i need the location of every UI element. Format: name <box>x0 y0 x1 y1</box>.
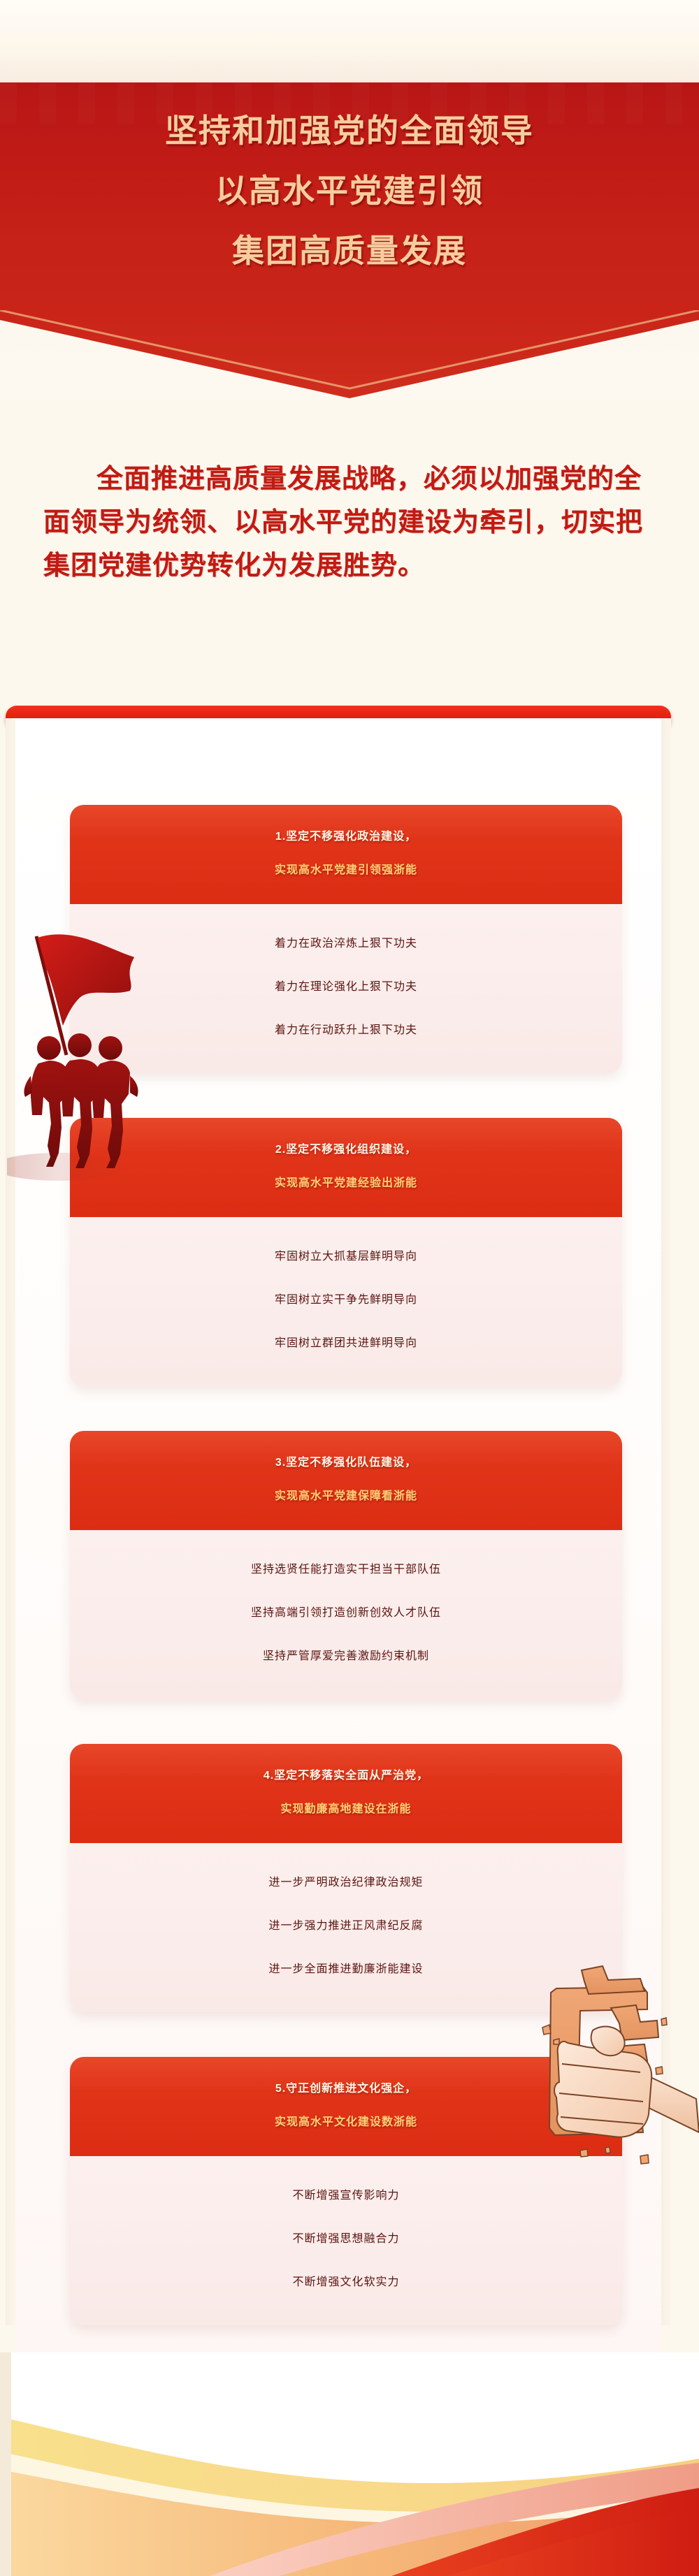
footer-ribbons <box>0 2352 699 2576</box>
section-header-3: 3.坚定不移强化队伍建设， 实现高水平党建保障看浙能 <box>70 1431 622 1530</box>
section-card-1[interactable]: 1.坚定不移强化政治建设， 实现高水平党建引领强浙能 着力在政治淬炼上狠下功夫 … <box>70 805 622 1073</box>
hero-chevron <box>0 310 699 401</box>
section-card-2[interactable]: 2.坚定不移强化组织建设， 实现高水平党建经验出浙能 牢固树立大抓基层鲜明导向 … <box>70 1118 622 1386</box>
section-header-1: 1.坚定不移强化政治建设， 实现高水平党建引领强浙能 <box>70 805 622 904</box>
section-card-4[interactable]: 4.坚定不移落实全面从严治党， 实现勤廉高地建设在浙能 进一步严明政治纪律政治规… <box>70 1744 622 2012</box>
section-item: 坚持高端引领打造创新创效人才队伍 <box>70 1592 622 1635</box>
frame-left-edge <box>6 718 15 2325</box>
top-cream-strip <box>0 0 699 85</box>
section-item: 着力在政治淬炼上狠下功夫 <box>70 922 622 966</box>
section-item: 着力在行动跃升上狠下功夫 <box>70 1009 622 1052</box>
frame-right-edge <box>661 718 671 2325</box>
section-title-line2-4: 实现勤廉高地建设在浙能 <box>70 1793 622 1826</box>
section-title-line2-3: 实现高水平党建保障看浙能 <box>70 1480 622 1513</box>
section-item: 牢固树立群团共进鲜明导向 <box>70 1322 622 1365</box>
section-title-line2-1: 实现高水平党建引领强浙能 <box>70 854 622 887</box>
hero-title-line-1: 坚持和加强党的全面领导 <box>0 101 699 161</box>
hero-title-line-2: 以高水平党建引领 <box>0 161 699 221</box>
intro-paragraph: 全面推进高质量发展战略，必须以加强党的全面领导为统领、以高水平党的建设为牵引，切… <box>43 458 658 588</box>
chevron-shape-icon <box>0 310 699 401</box>
section-body-5: 不断增强宣传影响力 不断增强思想融合力 不断增强文化软实力 <box>70 2156 622 2325</box>
hero-title-line-3: 集团高质量发展 <box>0 221 699 281</box>
section-body-3: 坚持选贤任能打造实干担当干部队伍 坚持高端引领打造创新创效人才队伍 坚持严管厚爱… <box>70 1530 622 1699</box>
section-title-line1-4: 4.坚定不移落实全面从严治党， <box>70 1759 622 1793</box>
section-header-4: 4.坚定不移落实全面从严治党， 实现勤廉高地建设在浙能 <box>70 1744 622 1843</box>
section-item: 不断增强思想融合力 <box>70 2218 622 2261</box>
section-title-line2-5: 实现高水平文化建设数浙能 <box>70 2106 622 2139</box>
section-body-2: 牢固树立大抓基层鲜明导向 牢固树立实干争先鲜明导向 牢固树立群团共进鲜明导向 <box>70 1217 622 1386</box>
section-header-5: 5.守正创新推进文化强企， 实现高水平文化建设数浙能 <box>70 2057 622 2156</box>
section-body-1: 着力在政治淬炼上狠下功夫 着力在理论强化上狠下功夫 着力在行动跃升上狠下功夫 <box>70 904 622 1073</box>
section-header-2: 2.坚定不移强化组织建设， 实现高水平党建经验出浙能 <box>70 1118 622 1217</box>
section-item: 不断增强文化软实力 <box>70 2261 622 2304</box>
section-item: 坚持严管厚爱完善激励约束机制 <box>70 1635 622 1678</box>
footer-wave-icon <box>0 2352 699 2576</box>
section-item: 着力在理论强化上狠下功夫 <box>70 966 622 1009</box>
section-title-line2-2: 实现高水平党建经验出浙能 <box>70 1167 622 1200</box>
hero-banner: 坚持和加强党的全面领导 以高水平党建引领 集团高质量发展 <box>0 82 699 313</box>
section-card-3[interactable]: 3.坚定不移强化队伍建设， 实现高水平党建保障看浙能 坚持选贤任能打造实干担当干… <box>70 1431 622 1699</box>
section-item: 牢固树立实干争先鲜明导向 <box>70 1279 622 1322</box>
section-item: 进一步严明政治纪律政治规矩 <box>70 1861 622 1905</box>
hero-title: 坚持和加强党的全面领导 以高水平党建引领 集团高质量发展 <box>0 101 699 281</box>
section-title-line1-3: 3.坚定不移强化队伍建设， <box>70 1446 622 1480</box>
section-body-4: 进一步严明政治纪律政治规矩 进一步强力推进正风肃纪反腐 进一步全面推进勤廉浙能建… <box>70 1843 622 2012</box>
section-item: 不断增强宣传影响力 <box>70 2174 622 2218</box>
section-item: 牢固树立大抓基层鲜明导向 <box>70 1235 622 1279</box>
section-title-line1-2: 2.坚定不移强化组织建设， <box>70 1133 622 1167</box>
section-title-line1-5: 5.守正创新推进文化强企， <box>70 2072 622 2106</box>
section-card-5[interactable]: 5.守正创新推进文化强企， 实现高水平文化建设数浙能 不断增强宣传影响力 不断增… <box>70 2057 622 2325</box>
section-item: 进一步强力推进正风肃纪反腐 <box>70 1905 622 1948</box>
section-item: 进一步全面推进勤廉浙能建设 <box>70 1948 622 1991</box>
section-title-line1-1: 1.坚定不移强化政治建设， <box>70 820 622 854</box>
section-item: 坚持选贤任能打造实干担当干部队伍 <box>70 1548 622 1592</box>
poster-root: 坚持和加强党的全面领导 以高水平党建引领 集团高质量发展 全面推进高质量发展战 <box>0 0 699 2576</box>
